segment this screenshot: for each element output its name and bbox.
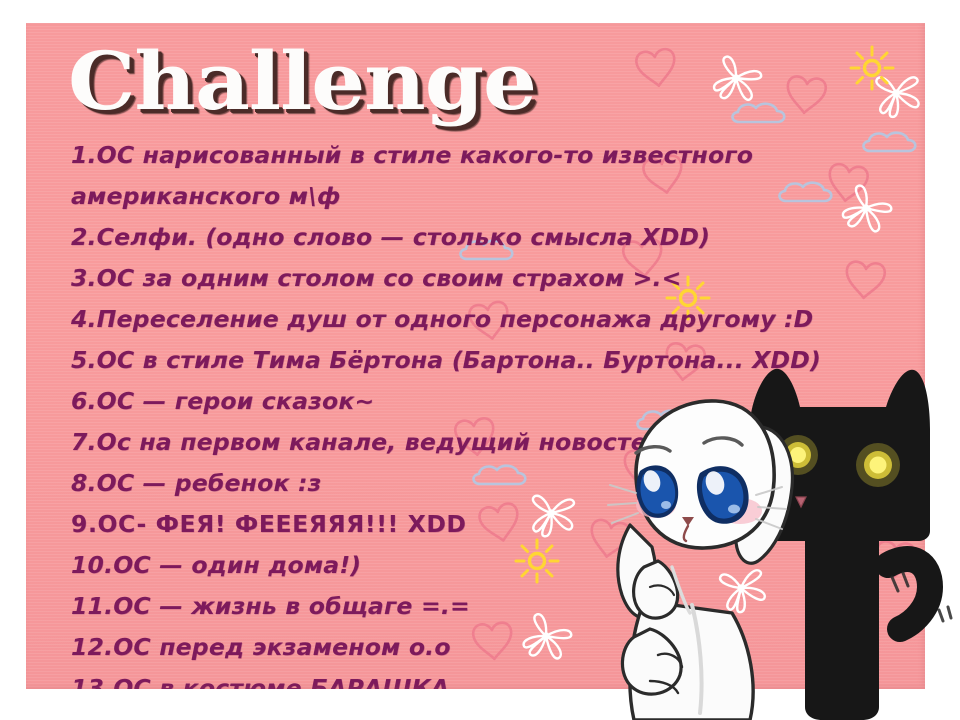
list-item: 7.Oc на первом канале, ведущий новостей [71,422,861,463]
list-item: 5.OC в стиле Тима Бёртона (Бартона.. Бур… [71,340,861,381]
list-item: американского м\ф [71,176,861,217]
list-item: 13.OC в костюме БАРАШКА. [71,668,861,689]
list-item: 8.OC — ребенок :з [71,463,861,504]
list-item: 2.Селфи. (одно слово — столько смысла XD… [71,217,861,258]
poster-canvas: Challenge 1.OC нарисованный в стиле како… [0,0,960,720]
list-item: 3.OC за одним столом со своим страхом >.… [71,258,861,299]
list-item: 1.OC нарисованный в стиле какого-то изве… [71,135,861,176]
poster-card: Challenge 1.OC нарисованный в стиле како… [26,23,925,689]
list-item: 6.OC — герои сказок~ [71,381,861,422]
list-item: 12.OC перед экзаменом о.о [71,627,861,668]
list-item: 10.OC — один дома!) [71,545,861,586]
list-item: 11.OC — жизнь в общаге =.= [71,586,861,627]
list-item: 9.OC- ФЕЯ! ФЕЕЕЯЯЯ!!! XDD [71,504,861,545]
list-item: 4.Переселение душ от одного персонажа др… [71,299,861,340]
page-title: Challenge [68,41,536,121]
challenge-list: 1.OC нарисованный в стиле какого-то изве… [71,135,861,689]
